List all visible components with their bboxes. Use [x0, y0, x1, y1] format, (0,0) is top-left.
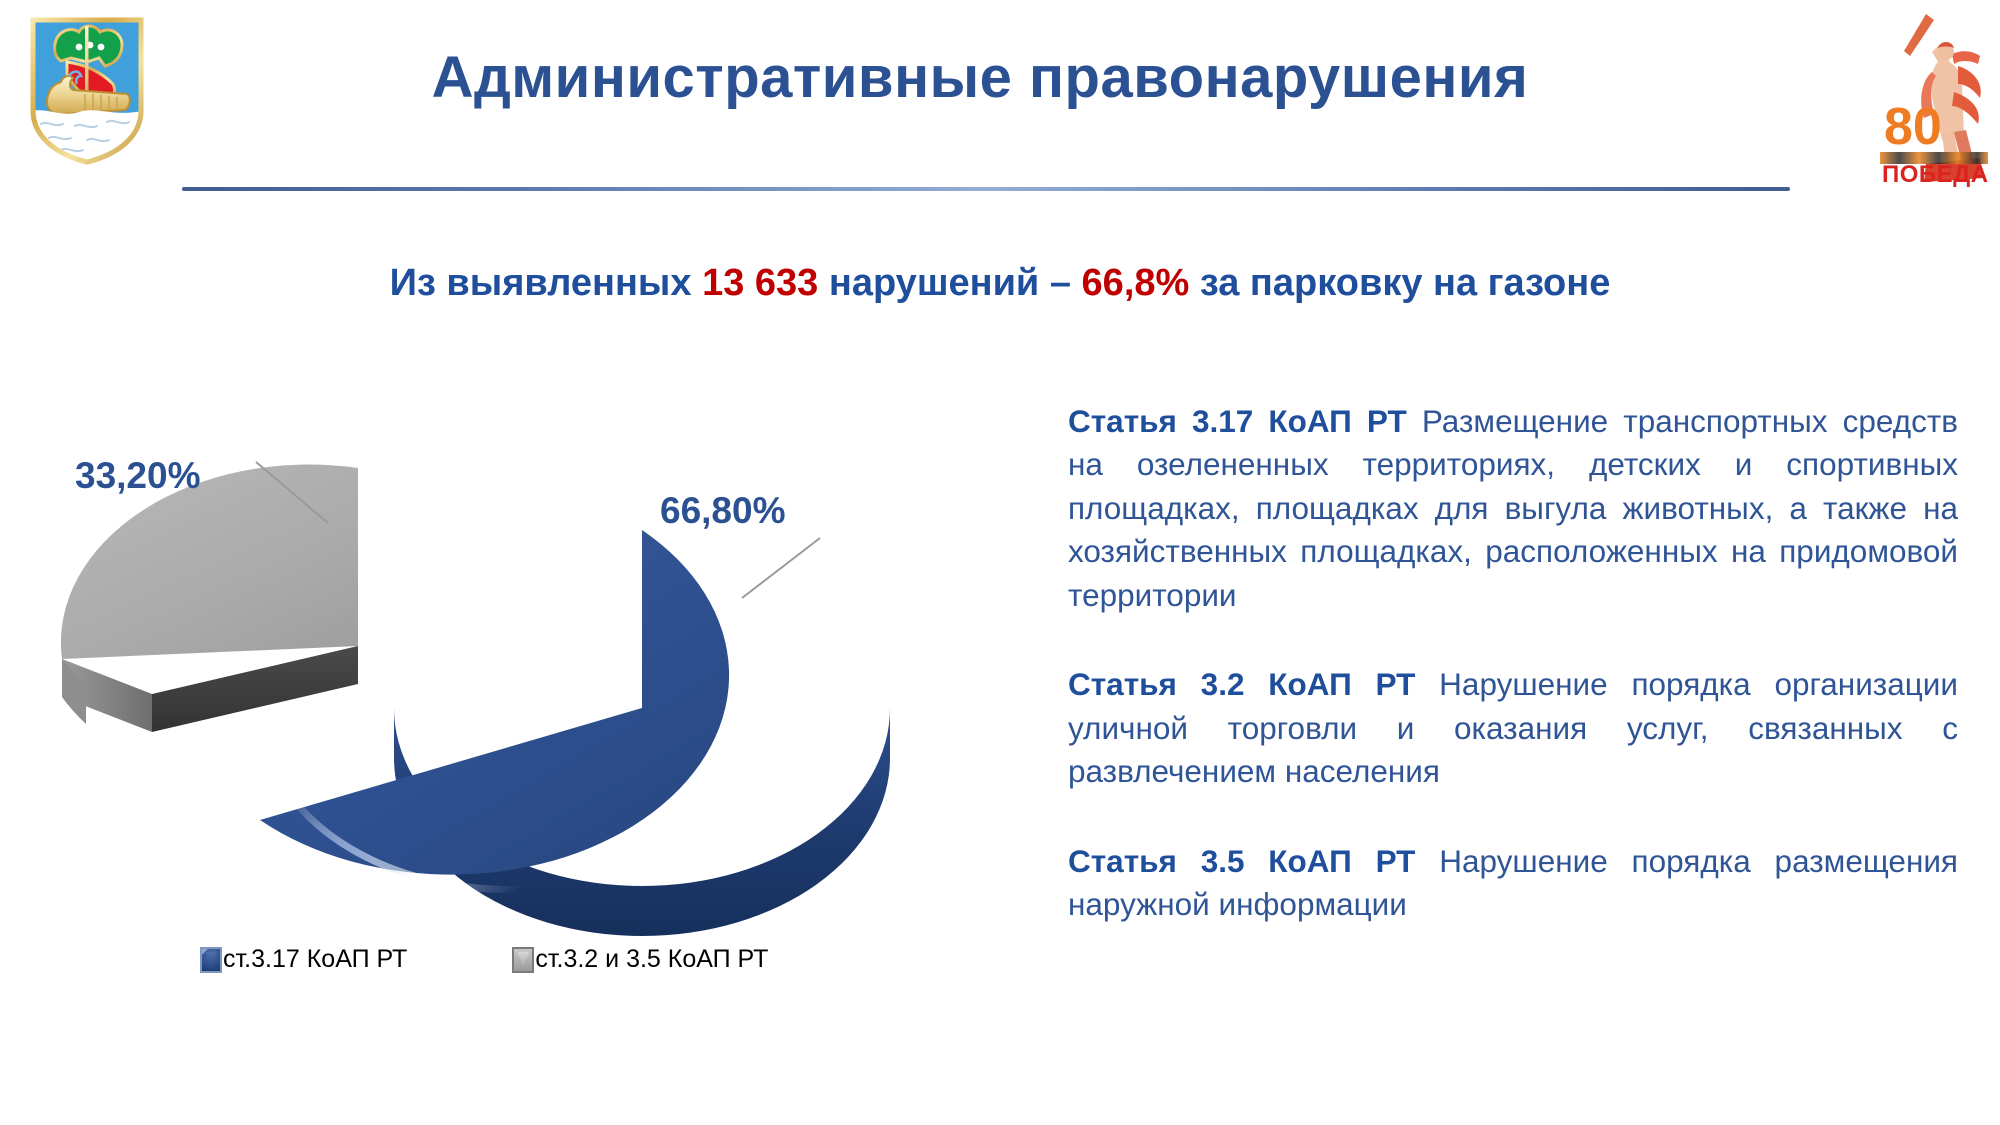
legend-swatch-gray-icon [512, 947, 534, 973]
victory-80-number: 80 [1884, 98, 1942, 156]
page-title: Административные правонарушения [160, 48, 1800, 109]
legend-label-st317: ст.3.17 КоАП РТ [223, 945, 407, 974]
legend-item-st32-35[interactable]: ст.3.2 и 3.5 КоАП РТ [512, 945, 768, 974]
article-paragraph-35: Статья 3.5 КоАП РТ Нарушение порядка раз… [1068, 840, 1958, 927]
victory-pobeda-word: ПОБЕДА! [1882, 161, 1988, 188]
chart-legend: ст.3.17 КоАП РТ ст.3.2 и 3.5 КоАП РТ [200, 945, 900, 974]
header-divider [182, 187, 1790, 191]
articles-column: Статья 3.17 КоАП РТ Размещение транспорт… [1068, 400, 1958, 927]
article-heading-317: Статья 3.17 КоАП РТ [1068, 403, 1407, 439]
pie-chart: 33,20% 66,80% ст.3.17 КоАП РТ ст.3.2 и 3… [60, 420, 1000, 1040]
legend-item-st317[interactable]: ст.3.17 КоАП РТ [200, 945, 407, 974]
subtitle-percent: 66,8% [1082, 262, 1190, 304]
slide-root: Административные правонарушения [0, 0, 2000, 1125]
kazan-coat-of-arms-icon [27, 14, 147, 166]
pie-label-blue: 66,80% [660, 490, 786, 532]
leader-line-blue [742, 538, 820, 598]
subtitle-violation-count: 13 633 [702, 262, 818, 304]
subtitle-summary: Из выявленных 13 633 нарушений – 66,8% з… [0, 262, 2000, 305]
legend-label-st32-35: ст.3.2 и 3.5 КоАП РТ [535, 945, 768, 974]
pie-chart-stage: 33,20% 66,80% [60, 420, 1000, 980]
subtitle-part3: за парковку на газоне [1189, 262, 1610, 304]
subtitle-part2: нарушений – [818, 262, 1081, 304]
legend-swatch-blue-icon [200, 947, 222, 973]
subtitle-part1: Из выявленных [390, 262, 702, 304]
victory-80-anniversary-icon: 80 ПОБЕДА! [1880, 6, 1988, 196]
article-paragraph-32: Статья 3.2 КоАП РТ Нарушение порядка орг… [1068, 663, 1958, 793]
article-heading-32: Статья 3.2 КоАП РТ [1068, 666, 1415, 702]
pie-chart-svg [60, 420, 1000, 980]
article-paragraph-317: Статья 3.17 КоАП РТ Размещение транспорт… [1068, 400, 1958, 617]
article-heading-35: Статья 3.5 КоАП РТ [1068, 843, 1415, 879]
pie-slice-gray [61, 464, 358, 732]
pie-label-gray: 33,20% [75, 455, 201, 497]
